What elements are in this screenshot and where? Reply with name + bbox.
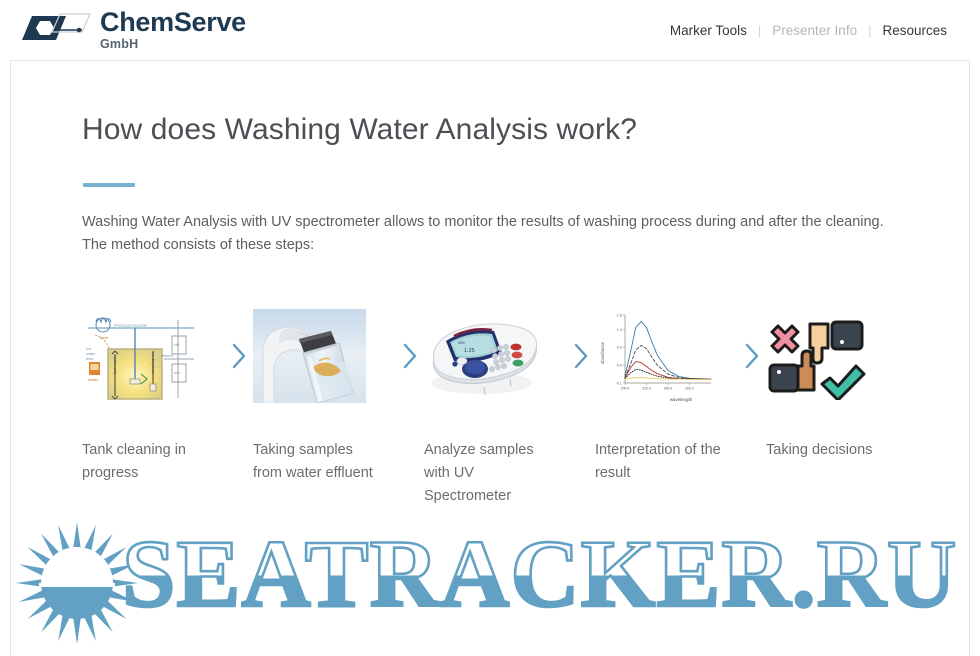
chevron-right-icon [738,306,766,406]
svg-text:wavelength: wavelength [670,397,693,402]
svg-text:feed: feed [86,357,93,361]
process-step: Taking samples from water effluent [253,306,396,485]
chevron-right-icon [396,306,424,406]
title-accent-rule [83,183,135,187]
svg-text:240.0: 240.0 [664,387,673,391]
tank-cleaning-diagram-icon: Pressure Nozzle heat heater hot water fe… [82,308,202,404]
process-step: 1.81.40.90.4-0.1200.0220.0240.0260.0 abs… [595,306,738,485]
svg-text:effluent: effluent [161,354,174,358]
svg-text:1.25: 1.25 [464,348,475,354]
svg-text:ABS: ABS [458,341,466,345]
svg-text:heat: heat [100,335,109,340]
nav-item-marker-tools[interactable]: Marker Tools [659,23,758,38]
svg-text:-0.1: -0.1 [616,382,622,386]
svg-text:1.4: 1.4 [617,328,622,332]
step-figure: Pressure Nozzle heat heater hot water fe… [82,306,225,406]
svg-text:200.0: 200.0 [621,387,630,391]
svg-text:ctrl: ctrl [174,342,179,347]
top-navigation: Marker Tools | Presenter Info | Resource… [659,23,958,38]
nav-item-presenter-info[interactable]: Presenter Info [761,23,868,38]
brand-text: ChemServe GmbH [100,9,246,51]
thumbs-decision-icons-icon [766,312,878,400]
player-bar: 4 / 21 00:38 / 00:44 [0,612,980,656]
brand-suffix: GmbH [100,38,246,51]
svg-text:out: out [174,370,180,375]
svg-text:heater: heater [88,378,99,382]
svg-text:sampling line: sampling line [151,352,155,374]
step-figure: 1.81.40.90.4-0.1200.0220.0240.0260.0 abs… [595,306,738,406]
process-steps: Pressure Nozzle heat heater hot water fe… [82,306,912,508]
svg-text:0.4: 0.4 [617,364,622,368]
svg-text:absorbance: absorbance [600,341,605,364]
app-root: ChemServe GmbH Marker Tools | Presenter … [0,0,980,656]
nav-item-resources[interactable]: Resources [871,23,958,38]
sample-vial-photo-icon [253,309,366,403]
slide-title: How does Washing Water Analysis work? [82,113,637,147]
uv-spectrometer-photo-icon: 1.25 ABS [424,309,544,404]
step-caption: Taking samples from water effluent [253,439,385,485]
process-step: Taking decisions [766,306,909,462]
step-figure [253,306,396,406]
step-caption: Taking decisions [766,439,898,462]
svg-text:Pressure Nozzle: Pressure Nozzle [114,323,148,328]
chemserve-hexagon-logo-icon [20,10,92,50]
step-figure [766,306,909,406]
slide-frame: How does Washing Water Analysis work? Wa… [10,60,970,656]
brand-name: ChemServe [100,9,246,36]
brand-logo[interactable]: ChemServe GmbH [20,9,246,51]
process-step: 1.25 ABS [424,306,567,508]
step-caption: Interpretation of the result [595,439,727,485]
svg-text:0.9: 0.9 [617,346,622,350]
step-caption: Analyze samples with UV Spectrometer [424,439,556,508]
slide-intro-text: Washing Water Analysis with UV spectrome… [82,211,907,258]
svg-text:water: water [86,352,96,356]
chevron-right-icon [567,306,595,406]
svg-text:tank depth: tank depth [113,356,117,374]
chevron-right-icon [225,306,253,406]
step-caption: Tank cleaning in progress [82,439,214,485]
svg-text:260.0: 260.0 [685,387,694,391]
svg-text:220.0: 220.0 [642,387,651,391]
page-header: ChemServe GmbH Marker Tools | Presenter … [0,0,980,60]
absorbance-spectrum-chart-icon: 1.81.40.90.4-0.1200.0220.0240.0260.0 abs… [595,307,717,405]
step-figure: 1.25 ABS [424,306,567,406]
svg-text:1.8: 1.8 [617,314,622,318]
process-step: Pressure Nozzle heat heater hot water fe… [82,306,225,485]
